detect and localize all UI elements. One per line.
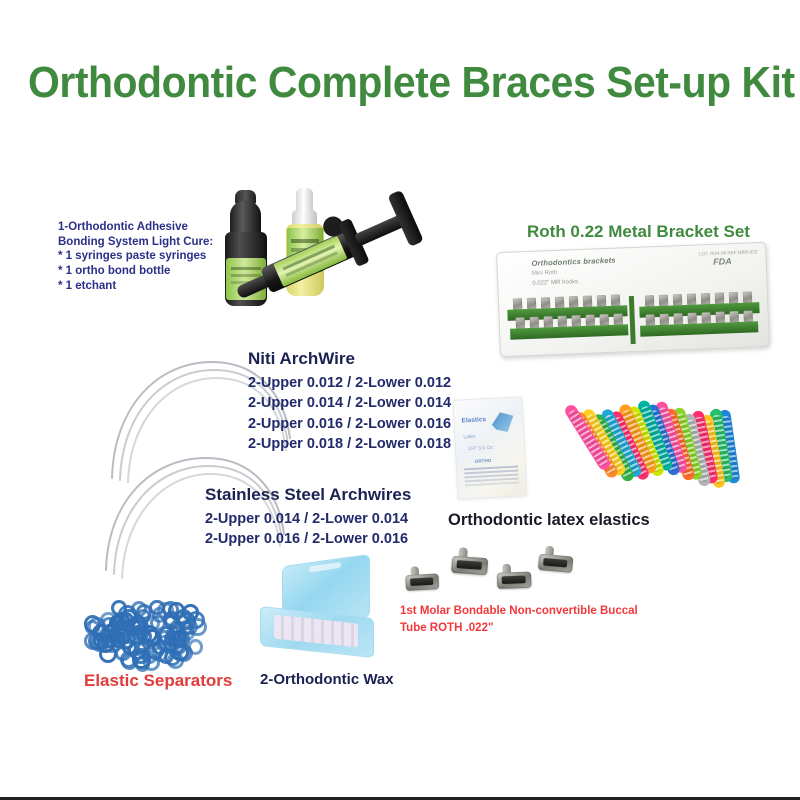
stainless-archwire-caption: Stainless Steel Archwires 2-Upper 0.014 … [205,484,411,550]
buccal-line-2: Tube ROTH .022" [400,620,638,637]
metal-bracket [716,311,725,322]
bracket-green-bar [507,305,627,321]
elastics-bag-title: Elastics [461,416,486,424]
metal-bracket [558,316,567,327]
niti-row: 2-Upper 0.012 / 2-Lower 0.012 [248,373,451,394]
metal-bracket [513,298,522,309]
metal-bracket [701,293,710,304]
elastic-separators-illustration [78,592,212,668]
niti-archwire-caption: Niti ArchWire 2-Upper 0.012 / 2-Lower 0.… [248,348,451,455]
orthodontic-wax-box-illustration [258,560,378,660]
bracket-set-title: Roth 0.22 Metal Bracket Set [527,221,750,243]
separator-ring [163,611,180,628]
ligature-ties-illustration [556,398,734,510]
buccal-tube-illustration [451,547,489,575]
niti-heading: Niti ArchWire [248,348,451,370]
tube-slot [502,576,526,584]
adhesive-line-1: 1-Orthodontic Adhesive [58,220,213,235]
metal-bracket [674,313,683,324]
elastics-bag-fineprint [464,466,518,471]
metal-bracket [516,317,525,328]
metal-bracket [673,294,682,305]
metal-bracket [572,315,581,326]
metal-bracket [729,292,738,303]
buccal-tube-illustration [496,563,531,589]
wax-title: 2-Orthodontic Wax [260,670,394,689]
buccal-line-1: 1st Molar Bondable Non-convertible Bucca… [400,603,638,620]
bracket-card-sub2: 0.022" MR hooks [532,279,578,287]
buccal-tube-illustration [538,545,574,573]
metal-bracket [687,294,696,305]
bracket-green-bar [640,321,758,337]
separator-ring [149,600,165,616]
metal-bracket [527,298,536,309]
bracket-card-lot-info: LOT 2024-08 REF MBR-022 [699,249,757,258]
syringe-label [273,236,347,287]
separator-ring [115,646,130,661]
buccal-tube-illustration [405,565,439,591]
latex-elastics-title: Orthodontic latex elastics [448,510,650,531]
bracket-card-divider [629,296,636,344]
metal-bracket [555,297,564,308]
metal-bracket [743,291,752,302]
metal-bracket [586,314,595,325]
metal-bracket [730,311,739,322]
niti-row: 2-Upper 0.018 / 2-Lower 0.018 [248,434,451,455]
elastics-bag-brand: ORTHO [475,458,492,464]
metal-bracket [646,314,655,325]
bracket-green-bar [510,324,628,340]
separator-ring [128,641,147,660]
metal-bracket [611,295,620,306]
tube-slot [456,560,481,570]
bracket-card-sub1: Mini Roth [532,270,558,277]
separators-title: Elastic Separators [84,670,232,692]
stainless-heading: Stainless Steel Archwires [205,484,411,506]
metal-bracket-card-illustration: Orthodontics brackets Mini Roth 0.022" M… [496,242,770,357]
fda-mark: FDA [713,256,732,267]
adhesive-line-3: * 1 syringes paste syringes [58,249,213,264]
adhesive-line-2: Bonding System Light Cure: [58,235,213,250]
metal-bracket [659,295,668,306]
adhesive-line-5: * 1 etchant [58,279,213,294]
metal-bracket [600,314,609,325]
buccal-tube-caption: 1st Molar Bondable Non-convertible Bucca… [400,603,638,636]
niti-row: 2-Upper 0.014 / 2-Lower 0.014 [248,393,451,414]
elastics-bag-material: Latex [463,434,476,441]
adhesive-line-4: * 1 ortho bond bottle [58,264,213,279]
adhesive-caption: 1-Orthodontic Adhesive Bonding System Li… [58,220,213,294]
metal-bracket [744,310,753,321]
metal-bracket [645,295,654,306]
stainless-row: 2-Upper 0.014 / 2-Lower 0.014 [205,509,411,530]
metal-bracket [660,314,669,325]
separator-ring [113,612,130,629]
metal-bracket [614,313,623,324]
niti-row: 2-Upper 0.016 / 2-Lower 0.016 [248,414,451,435]
stainless-row: 2-Upper 0.016 / 2-Lower 0.016 [205,529,411,550]
metal-bracket [715,293,724,304]
metal-bracket [688,313,697,324]
tube-slot [410,577,433,586]
metal-bracket [702,312,711,323]
metal-bracket [569,296,578,307]
bracket-green-bar [639,302,759,318]
metal-bracket [597,295,606,306]
metal-bracket [541,297,550,308]
product-image: Orthodontic Complete Braces Set-up Kit 1… [0,0,800,800]
latex-elastics-bag-illustration: Elastics Latex 1/4" 3.5 Oz ORTHO [452,396,527,500]
elastics-brand-logo-icon [491,412,514,433]
elastics-bag-size: 1/4" 3.5 Oz [468,445,493,452]
paste-syringe-illustration [238,238,438,348]
metal-bracket [530,317,539,328]
page-title: Orthodontic Complete Braces Set-up Kit [28,58,772,108]
separator-ring [136,609,151,624]
metal-bracket [544,316,553,327]
metal-bracket [583,296,592,307]
separator-ring [188,618,207,637]
bracket-card-header: Orthodontics brackets [531,256,616,268]
